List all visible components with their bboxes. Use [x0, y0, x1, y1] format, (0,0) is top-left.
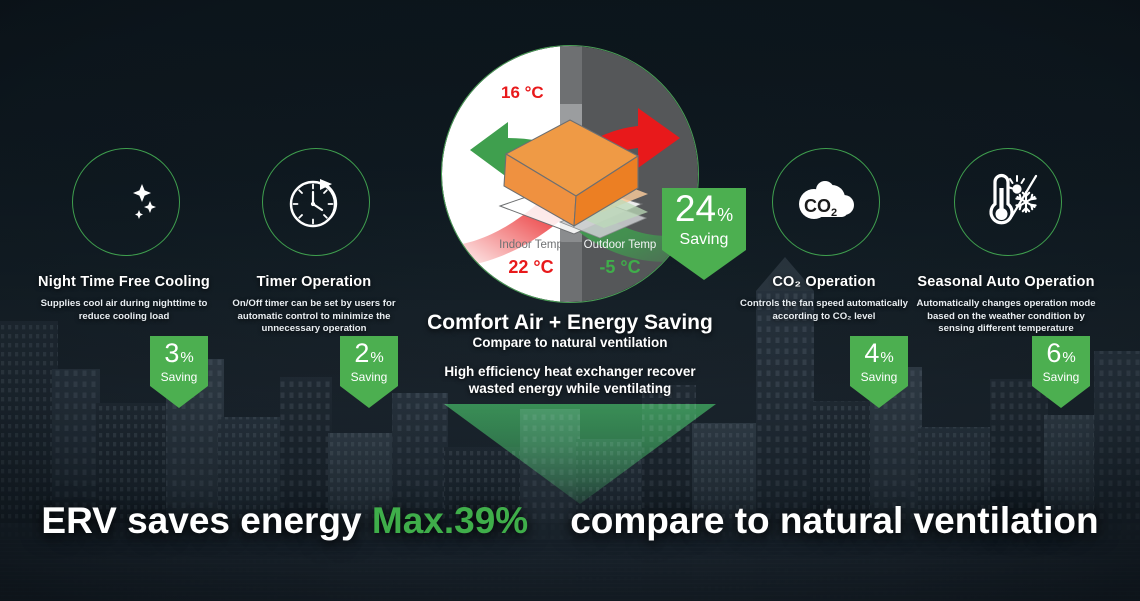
saving-unit: % [180, 350, 193, 365]
outdoor-temp-label: Outdoor Temp [573, 239, 667, 251]
clock-arrow-icon [284, 170, 348, 234]
saving-unit: % [1062, 350, 1075, 365]
supply-air-temperature: 16 °C [501, 83, 544, 103]
card-title: CO₂ Operation [728, 274, 920, 290]
saving-unit: % [880, 350, 893, 365]
svg-text:CO: CO [804, 196, 831, 216]
saving-unit: % [717, 206, 733, 224]
infographic-stage: 3 % Saving Night Time Free Cooling Suppl… [0, 0, 1140, 601]
card-title: Night Time Free Cooling [28, 274, 220, 290]
co2-cloud-icon: CO 2 [790, 172, 862, 232]
harbor-water [0, 539, 1140, 601]
heat-exchanger-diagram: 16 °C Indoor Temp 22 °C Outdoor Temp -5 … [441, 45, 699, 303]
card-title: Seasonal Auto Operation [910, 274, 1102, 290]
headline-prefix: ERV saves energy [41, 500, 371, 541]
saving-unit: % [370, 350, 383, 365]
center-saving-badge: 24 % Saving [662, 188, 746, 280]
saving-value: 24 [675, 190, 716, 227]
moon-stars-icon [94, 170, 158, 234]
center-detail-line-1: High efficiency heat exchanger recover [0, 364, 1140, 379]
outdoor-temp-value: -5 °C [573, 257, 667, 278]
svg-text:2: 2 [831, 207, 837, 219]
headline-accent: Max.39% [372, 500, 528, 541]
indoor-temp-label: Indoor Temp [487, 239, 575, 251]
center-subheading: Compare to natural ventilation [0, 335, 1140, 350]
saving-label: Saving [680, 232, 729, 248]
thermometer-sun-snow-icon [972, 168, 1042, 236]
indoor-temp-value: 22 °C [487, 257, 575, 278]
bottom-headline: ERV saves energy Max.39%compare to natur… [0, 500, 1140, 542]
card-title: Timer Operation [218, 274, 410, 290]
headline-suffix: compare to natural ventilation [570, 500, 1098, 541]
center-heading: Comfort Air + Energy Saving [0, 311, 1140, 335]
center-detail-line-2: wasted energy while ventilating [0, 381, 1140, 396]
